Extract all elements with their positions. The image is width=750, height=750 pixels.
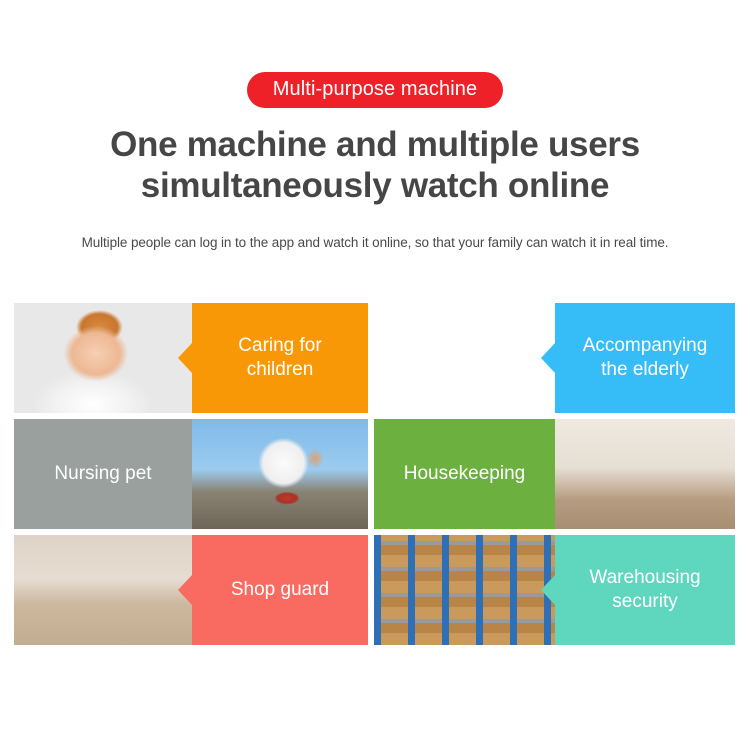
page-title: One machine and multiple users simultane… — [0, 124, 750, 207]
scenario-label-panel: Accompanying the elderly — [555, 303, 735, 413]
scenario-label-line-1: Caring for — [238, 335, 321, 356]
scenario-tile-housekeeping[interactable]: Housekeeping — [374, 419, 735, 529]
scenario-tile-nursing-pet[interactable]: Nursing pet — [14, 419, 368, 529]
badge-row: Multi-purpose machine — [0, 72, 750, 108]
scenario-label-panel: Caring for children — [192, 303, 368, 413]
scenario-label-line-2: children — [247, 359, 314, 380]
arrow-notch-icon — [541, 343, 555, 373]
page-subtitle: Multiple people can log in to the app an… — [0, 234, 750, 252]
scenario-row: Caring for children Accompanying the eld… — [14, 303, 735, 413]
arrow-notch-icon — [541, 575, 555, 605]
scenario-label-line-1: Nursing pet — [54, 463, 151, 484]
baby-photo — [14, 303, 192, 413]
scenario-label-panel: Warehousing security — [555, 535, 735, 645]
scenario-tile-caring-for-children[interactable]: Caring for children — [14, 303, 368, 413]
arrow-notch-icon — [178, 343, 192, 373]
arrow-notch-icon — [178, 575, 192, 605]
scenario-tile-shop-guard[interactable]: Shop guard — [14, 535, 368, 645]
multi-purpose-badge: Multi-purpose machine — [247, 72, 503, 108]
headline-line-1: One machine and multiple users — [0, 124, 750, 165]
scenario-label-line-2: security — [612, 591, 677, 612]
scenario-label-panel: Shop guard — [192, 535, 368, 645]
scenario-label-line-2: the elderly — [601, 359, 689, 380]
headline-line-2: simultaneously watch online — [0, 165, 750, 206]
cat-photo — [192, 419, 368, 529]
scenario-tile-warehousing-security[interactable]: Warehousing security — [374, 535, 735, 645]
scenario-row: Shop guard Warehousing security — [14, 535, 735, 645]
scenario-label-panel: Housekeeping — [374, 419, 555, 529]
scenario-label-panel: Nursing pet — [14, 419, 192, 529]
kitchen-photo — [555, 419, 735, 529]
warehouse-photo — [374, 535, 555, 645]
shop-interior-photo — [14, 535, 192, 645]
scenario-tile-accompanying-the-elderly[interactable]: Accompanying the elderly — [374, 303, 735, 413]
scenario-row: Nursing pet Housekeeping — [14, 419, 735, 529]
scenario-label-line-1: Shop guard — [231, 579, 329, 600]
scenario-label-line-1: Accompanying — [583, 335, 708, 356]
scenario-label-line-1: Warehousing — [589, 567, 700, 588]
scenario-grid: Caring for children Accompanying the eld… — [14, 303, 735, 645]
elderly-couple-photo — [374, 303, 555, 413]
scenario-label-line-1: Housekeeping — [404, 463, 525, 484]
promo-page: Multi-purpose machine One machine and mu… — [0, 0, 750, 750]
